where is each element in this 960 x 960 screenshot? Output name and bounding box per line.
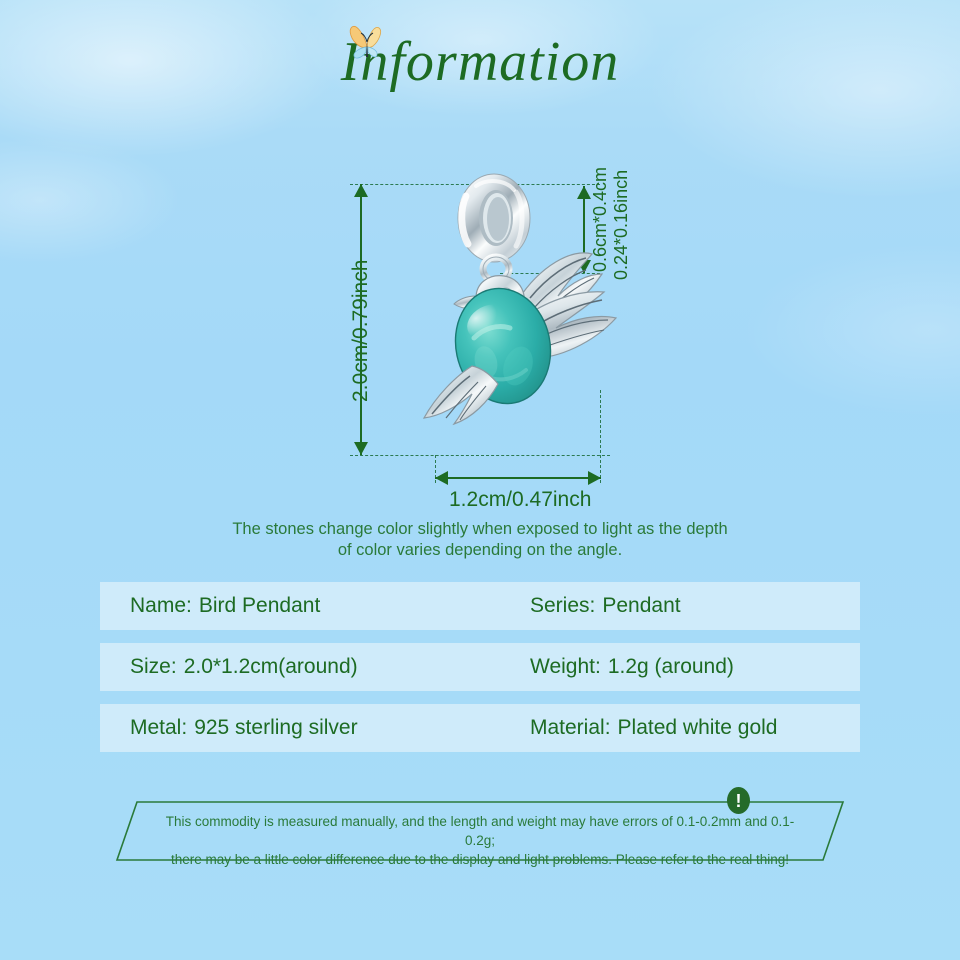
spec-value-material: Plated white gold <box>618 716 778 740</box>
spec-value-series: Pendant <box>602 594 680 618</box>
product-dimension-figure: 2.0cm/0.79inch 0.6cm*0.4cm 0.24*0.16inch… <box>0 160 960 520</box>
height-arrow-top-icon <box>354 184 368 197</box>
spec-value-size: 2.0*1.2cm(around) <box>184 655 358 679</box>
bird-pendant-image <box>390 170 630 470</box>
spec-key-material: Material: <box>530 716 611 740</box>
spec-key-size: Size: <box>130 655 177 679</box>
height-dimension-label: 2.0cm/0.79inch <box>349 260 373 402</box>
spec-cell-size: Size: 2.0*1.2cm(around) <box>130 655 530 679</box>
disclaimer-line-1: This commodity is measured manually, and… <box>155 812 805 850</box>
spec-value-weight: 1.2g (around) <box>608 655 734 679</box>
disclaimer-banner: ! This commodity is measured manually, a… <box>115 800 845 862</box>
page-title: Information <box>0 34 960 90</box>
caption-line-1: The stones change color slightly when ex… <box>0 519 960 540</box>
spec-value-metal: 925 sterling silver <box>194 716 357 740</box>
width-dimension-label: 1.2cm/0.47inch <box>449 488 591 512</box>
spec-value-name: Bird Pendant <box>199 594 320 618</box>
caption-line-2: of color varies depending on the angle. <box>0 540 960 561</box>
width-arrow-right-icon <box>588 471 601 485</box>
height-arrow-bottom-icon <box>354 442 368 455</box>
exclamation-glyph: ! <box>736 792 742 810</box>
page-header: Information <box>0 34 960 90</box>
spec-key-name: Name: <box>130 594 192 618</box>
spec-cell-material: Material: Plated white gold <box>530 716 777 740</box>
table-row: Metal: 925 sterling silver Material: Pla… <box>100 704 860 752</box>
stone-color-caption: The stones change color slightly when ex… <box>0 519 960 561</box>
exclamation-icon: ! <box>727 787 750 814</box>
butterfly-icon <box>345 22 391 66</box>
specification-table: Name: Bird Pendant Series: Pendant Size:… <box>100 582 860 765</box>
spec-key-weight: Weight: <box>530 655 601 679</box>
product-information-page: Information 2.0cm/0.79inch 0.6cm*0.4cm 0… <box>0 0 960 960</box>
width-dimension-line <box>435 477 601 479</box>
disclaimer-line-2: there may be a little color difference d… <box>155 850 805 869</box>
spec-cell-weight: Weight: 1.2g (around) <box>530 655 734 679</box>
table-row: Name: Bird Pendant Series: Pendant <box>100 582 860 630</box>
disclaimer-text: This commodity is measured manually, and… <box>155 812 805 869</box>
spec-key-metal: Metal: <box>130 716 187 740</box>
spec-cell-series: Series: Pendant <box>530 594 681 618</box>
spec-cell-metal: Metal: 925 sterling silver <box>130 716 530 740</box>
width-arrow-left-icon <box>435 471 448 485</box>
spec-cell-name: Name: Bird Pendant <box>130 594 530 618</box>
spec-key-series: Series: <box>530 594 595 618</box>
table-row: Size: 2.0*1.2cm(around) Weight: 1.2g (ar… <box>100 643 860 691</box>
